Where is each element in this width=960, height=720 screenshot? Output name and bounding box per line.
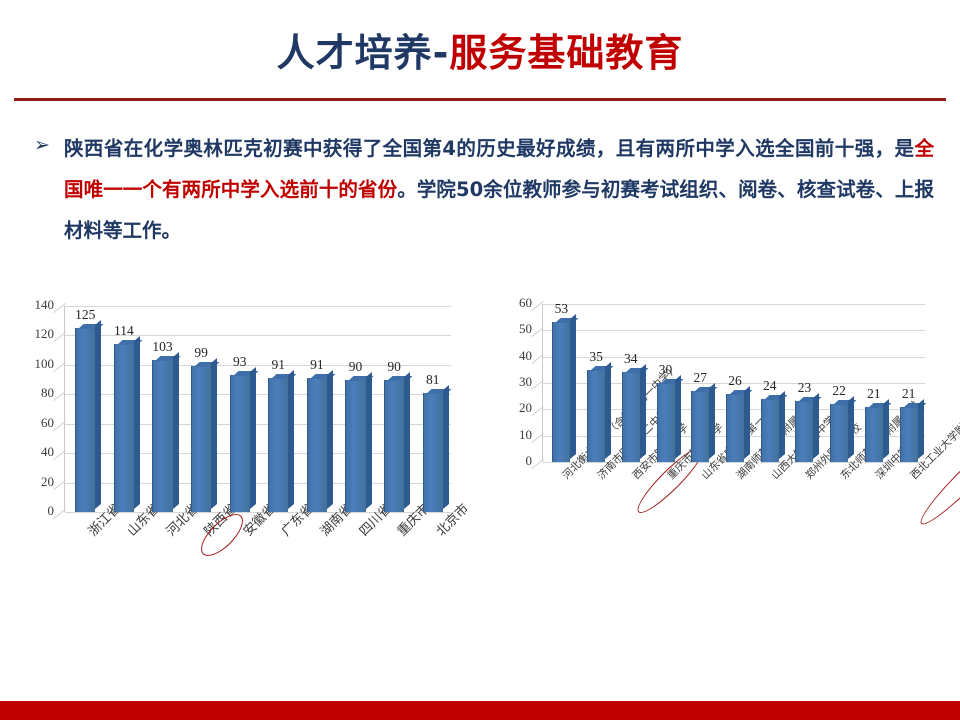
axis-depth-tick [53, 332, 65, 342]
axis-depth-tick [53, 391, 65, 401]
y-axis-tick-label: 100 [18, 356, 54, 372]
bar-side-face [288, 370, 294, 509]
axis-depth-tick [53, 362, 65, 372]
axis-depth-tick [53, 303, 65, 313]
bar [865, 407, 883, 462]
bar-value-label: 27 [681, 370, 719, 386]
bar [268, 378, 288, 512]
y-axis-tick-label: 60 [18, 415, 54, 431]
bar [114, 344, 134, 512]
bar-face [657, 383, 675, 462]
bar-value-label: 81 [413, 372, 453, 388]
bar-value-label: 35 [577, 349, 615, 365]
axis-depth-tick [531, 406, 543, 416]
bar-side-face [95, 320, 101, 509]
bar-face [587, 370, 605, 462]
bar-value-label: 91 [297, 357, 337, 373]
bar-side-face [250, 367, 256, 509]
body-paragraph-block: ➢ 陕西省在化学奥林匹克初赛中获得了全国第4的历史最好成绩，且有两所中学入选全国… [34, 128, 934, 251]
y-axis-tick-label: 10 [496, 427, 532, 443]
gridline [65, 306, 451, 307]
y-axis-tick-label: 0 [496, 453, 532, 469]
y-axis-tick-label: 40 [18, 444, 54, 460]
bar-value-label: 99 [181, 345, 221, 361]
bar [552, 322, 570, 462]
bar-side-face [134, 336, 140, 509]
bar-side-face [404, 372, 410, 509]
bar-value-label: 125 [65, 307, 105, 323]
bar-side-face [211, 358, 217, 509]
bar-face [691, 391, 709, 462]
bar-value-label: 53 [542, 301, 580, 317]
bar [622, 372, 640, 462]
bar [587, 370, 605, 462]
bar-value-label: 91 [258, 357, 298, 373]
bar-side-face [327, 370, 333, 509]
axis-depth-tick [531, 459, 543, 469]
bar [345, 380, 365, 512]
school-bar-chart: 010203040506053河北衡水中学（含衡水第一中学）35济南市历城第二中… [498, 298, 960, 628]
bar-face [345, 380, 365, 512]
bar-face [761, 399, 779, 462]
y-axis-tick-label: 30 [496, 374, 532, 390]
bar [900, 407, 918, 462]
bar [657, 383, 675, 462]
bar-value-label: 26 [716, 373, 754, 389]
bar [691, 391, 709, 462]
bar-side-face [605, 362, 611, 459]
y-axis-tick-label: 120 [18, 326, 54, 342]
gridline [543, 330, 925, 331]
title-divider [14, 98, 946, 101]
bar-face [268, 378, 288, 512]
bar-face [191, 366, 211, 512]
bar-value-label: 90 [335, 359, 375, 375]
y-axis-tick-label: 20 [496, 400, 532, 416]
bar-face [830, 404, 848, 462]
bar-side-face [640, 364, 646, 459]
page-title: 人才培养-服务基础教育 [0, 22, 960, 77]
axis-depth-tick [53, 480, 65, 490]
bullet-arrow-icon: ➢ [34, 136, 50, 155]
bar-value-label: 114 [104, 323, 144, 339]
bar [384, 380, 404, 512]
axis-depth-tick [531, 433, 543, 443]
bar-value-label: 24 [751, 378, 789, 394]
y-axis-tick-label: 40 [496, 348, 532, 364]
body-text-before: 陕西省在化学奥林匹克初赛中获得了全国第4的历史最好成绩，且有两所中学入选全国前十… [64, 137, 914, 160]
y-axis-tick-label: 60 [496, 295, 532, 311]
bar-side-face [779, 391, 785, 459]
body-paragraph: 陕西省在化学奥林匹克初赛中获得了全国第4的历史最好成绩，且有两所中学入选全国前十… [64, 128, 934, 251]
bar-face [900, 407, 918, 462]
bar [726, 394, 744, 462]
bar-side-face [813, 393, 819, 459]
axis-depth-tick [53, 509, 65, 519]
bar-face [795, 401, 813, 462]
page-title-secondary: 服务基础教育 [449, 31, 683, 75]
gridline [543, 304, 925, 305]
axis-depth-tick [531, 354, 543, 364]
province-bar-chart: 020406080100120140125浙江省114山东省103河北省99陕西… [6, 298, 476, 598]
bar-value-label: 23 [785, 380, 823, 396]
footer-accent-bar [0, 701, 960, 720]
bar-value-label: 30 [647, 362, 685, 378]
bar-side-face [744, 385, 750, 458]
y-axis-tick-label: 50 [496, 321, 532, 337]
bar-face [622, 372, 640, 462]
bar-face [152, 360, 172, 512]
bar-side-face [918, 399, 924, 459]
bar [152, 360, 172, 512]
bar [830, 404, 848, 462]
axis-depth-tick [531, 380, 543, 390]
bar [191, 366, 211, 512]
page-title-primary: 人才培养- [277, 31, 450, 75]
bar-side-face [883, 399, 889, 459]
bar-side-face [709, 383, 715, 459]
bar [307, 378, 327, 512]
y-axis-tick-label: 0 [18, 503, 54, 519]
axis-depth-tick [53, 450, 65, 460]
bar-face [865, 407, 883, 462]
bar-side-face [848, 396, 854, 459]
bar-face [384, 380, 404, 512]
axis-depth-tick [531, 327, 543, 337]
bar-value-label: 103 [142, 339, 182, 355]
bar-value-label: 90 [374, 359, 414, 375]
bar-face [726, 394, 744, 462]
bar-side-face [675, 375, 681, 459]
bar-value-label: 34 [612, 351, 650, 367]
bar-value-label: 21 [890, 386, 928, 402]
bar-face [423, 393, 443, 512]
y-axis-tick-label: 140 [18, 297, 54, 313]
bar-face [114, 344, 134, 512]
bar-face [230, 375, 250, 512]
bar-face [552, 322, 570, 462]
bar-side-face [443, 385, 449, 509]
bar-value-label: 22 [820, 383, 858, 399]
bar [75, 328, 95, 512]
bar [230, 375, 250, 512]
bar-face [75, 328, 95, 512]
y-axis-tick-label: 20 [18, 474, 54, 490]
bar-side-face [173, 352, 179, 509]
axis-depth-tick [53, 421, 65, 431]
bar [761, 399, 779, 462]
bar-value-label: 21 [855, 386, 893, 402]
bar-value-label: 93 [220, 354, 260, 370]
bar [423, 393, 443, 512]
bar-side-face [570, 314, 576, 459]
y-axis-tick-label: 80 [18, 385, 54, 401]
bar [795, 401, 813, 462]
bar-side-face [366, 372, 372, 509]
bar-face [307, 378, 327, 512]
